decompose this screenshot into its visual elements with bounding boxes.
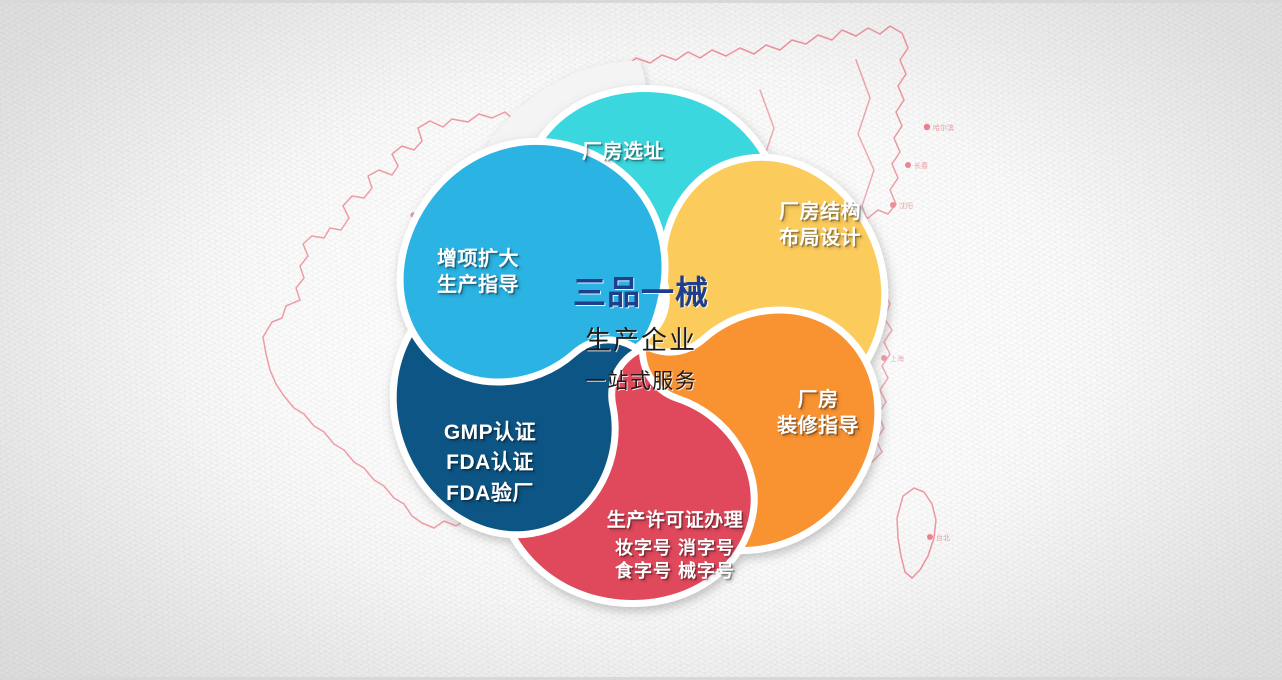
diagram-canvas: 哈尔滨 长春 沈阳 北京 上海 福州 台北 广州 乌鲁木齐 (0, 0, 1282, 680)
six-petal-pinwheel (339, 46, 939, 646)
top-edge-rule (0, 0, 1282, 3)
